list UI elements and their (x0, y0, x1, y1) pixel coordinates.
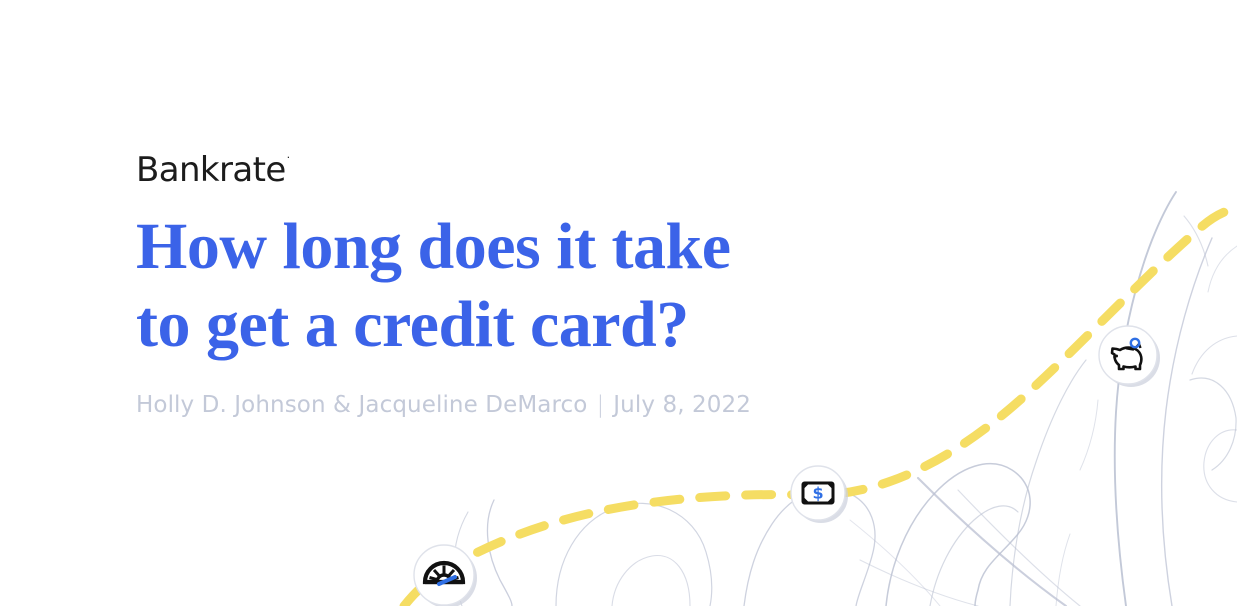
byline: Holly D. Johnson & Jacqueline DeMarco|Ju… (136, 390, 956, 420)
gauge-needle (439, 577, 455, 584)
byline-date: July 8, 2022 (613, 392, 751, 418)
page-title: How long does it take to get a credit ca… (136, 208, 956, 364)
badge-circle (791, 466, 845, 520)
svg-text:$: $ (812, 484, 823, 503)
bankrate-logo[interactable]: Bankrate· (136, 148, 956, 192)
badge-shadow (417, 548, 477, 606)
logo-trademark-symbol: · (287, 148, 291, 168)
badge-circle (414, 545, 474, 605)
byline-separator: | (587, 392, 613, 418)
marker-piggy-bank[interactable] (1099, 326, 1160, 387)
logo-wordmark: Bankrate (136, 148, 286, 192)
badge-circle (1099, 326, 1157, 384)
article-hero-banner: $ Bankrate· How long d (0, 0, 1237, 606)
cash-banknote-icon: $ (803, 483, 833, 503)
coin-icon (1131, 339, 1139, 347)
byline-authors: Holly D. Johnson & Jacqueline DeMarco (136, 392, 587, 418)
hero-text-block: Bankrate· How long does it take to get a… (136, 148, 956, 420)
piggy-bank-icon (1112, 339, 1141, 369)
marker-credit-score-gauge[interactable] (414, 545, 477, 606)
badge-shadow (1102, 329, 1160, 387)
credit-score-gauge-icon (425, 563, 463, 584)
badge-shadow (794, 469, 848, 523)
marker-cash-banknote[interactable]: $ (791, 466, 848, 523)
